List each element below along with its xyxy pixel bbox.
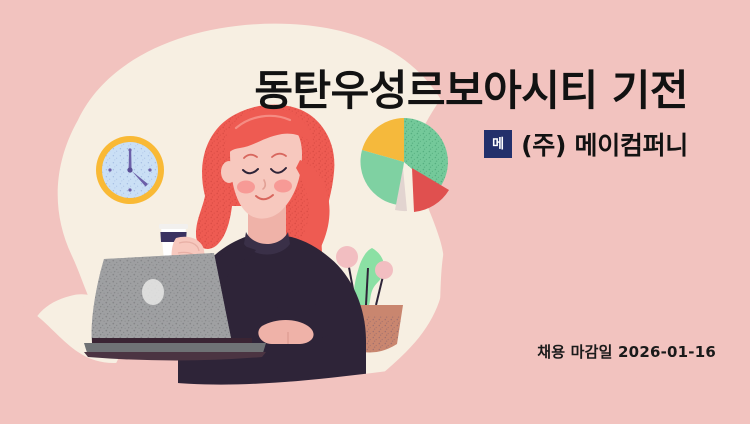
laptop-logo <box>142 279 164 305</box>
application-deadline: 채용 마감일 2026-01-16 <box>537 341 716 362</box>
company-name: (주) 메이컴퍼니 <box>521 126 688 162</box>
woman-ear <box>221 161 237 183</box>
page-title: 동탄우성르보아시티 기전 <box>254 68 688 113</box>
plant-flower <box>375 261 393 279</box>
company-row: 메 (주) 메이컴퍼니 <box>484 126 688 162</box>
job-posting-poster: 동탄우성르보아시티 기전 메 (주) 메이컴퍼니 채용 마감일 2026-01-… <box>0 0 750 424</box>
woman-blush <box>237 181 255 194</box>
wall-clock <box>96 136 164 204</box>
company-badge-icon: 메 <box>484 130 512 158</box>
woman-blush <box>274 180 292 193</box>
plant-flower <box>336 246 358 268</box>
